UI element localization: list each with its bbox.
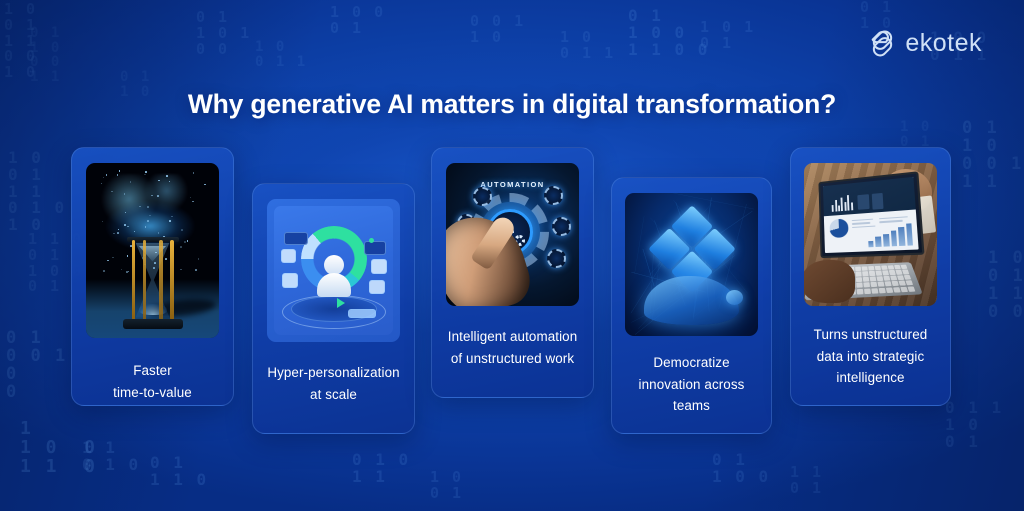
benefit-card-hyper-personalization[interactable]: ★★★★★ Hyper-per [252, 183, 415, 434]
illustration-inner-panel: ★★★★★ [274, 206, 393, 335]
hourglass-blue-sand-photo [86, 163, 219, 338]
automation-touch-interface-photo: AUTOMATION [446, 163, 579, 306]
benefit-card-label: Intelligent automation of unstructured w… [440, 326, 586, 369]
hud-node-analytics-icon [473, 187, 492, 206]
hand-thumb-graphic [726, 290, 743, 305]
user-personalization-illustration: ★★★★★ [267, 199, 400, 342]
hourglass-post-left [132, 240, 135, 320]
floating-gear-icon [281, 249, 296, 263]
dashboard-kpi-tile [858, 199, 869, 209]
floating-chart-icon [369, 280, 385, 294]
benefit-card-label: Democratize innovation across teams [631, 352, 753, 417]
slide-canvas: 1 0 0 1 1 1 0 0 1 00 1 1 0 0 0 1 11 0 0 … [0, 0, 1024, 511]
puzzle-pieces-hand-illustration [625, 193, 758, 336]
avatar-head-icon [324, 255, 344, 275]
hourglass-post-right-inner [159, 240, 162, 320]
floating-list-card [364, 241, 386, 255]
benefit-card-intelligent-automation[interactable]: AUTOMATION Intelligent automation of uns… [431, 147, 594, 398]
benefit-card-label: Faster time-to-value [105, 360, 200, 403]
dashboard-column-chart [867, 223, 913, 247]
play-arrow-icon [337, 298, 345, 308]
automation-overlay-text: AUTOMATION [480, 180, 544, 189]
floating-camera-icon [371, 259, 387, 274]
dashboard-donut-chart [829, 219, 849, 238]
benefit-card-label: Hyper-personalization at scale [259, 362, 407, 405]
hourglass-base [123, 319, 183, 329]
benefit-card-unstructured-data[interactable]: Turns unstructured data into strategic i… [790, 147, 951, 406]
benefit-cards-row: Faster time-to-value ★★★★★ [0, 0, 1024, 511]
page-title: Why generative AI matters in digital tra… [0, 89, 1024, 120]
laptop-analytics-dashboard-photo [804, 163, 937, 306]
laptop-screen [818, 171, 924, 258]
benefit-card-faster-time-to-value[interactable]: Faster time-to-value [71, 147, 234, 406]
brand-name: ekotek [905, 31, 982, 56]
hourglass-post-right [170, 240, 173, 320]
hourglass-frame [123, 237, 183, 329]
benefit-card-label: Turns unstructured data into strategic i… [806, 324, 936, 389]
hud-node-mobile-icon [547, 249, 566, 268]
analytics-dashboard [823, 177, 918, 253]
ekotek-knot-icon [869, 30, 896, 57]
hud-node-server-icon [544, 186, 563, 205]
brand-logo[interactable]: ekotek [869, 30, 982, 57]
benefit-card-democratize-innovation[interactable]: Democratize innovation across teams [611, 177, 772, 434]
floating-button-card [348, 309, 376, 318]
hud-node-check-icon [552, 217, 571, 236]
floating-chat-card [284, 232, 308, 245]
floating-megaphone-icon [282, 273, 298, 288]
hourglass-post-left-inner [143, 240, 146, 320]
dashboard-kpi-tile [872, 199, 884, 210]
left-hand-photo [804, 260, 855, 303]
dashboard-bar-chart [828, 194, 853, 212]
